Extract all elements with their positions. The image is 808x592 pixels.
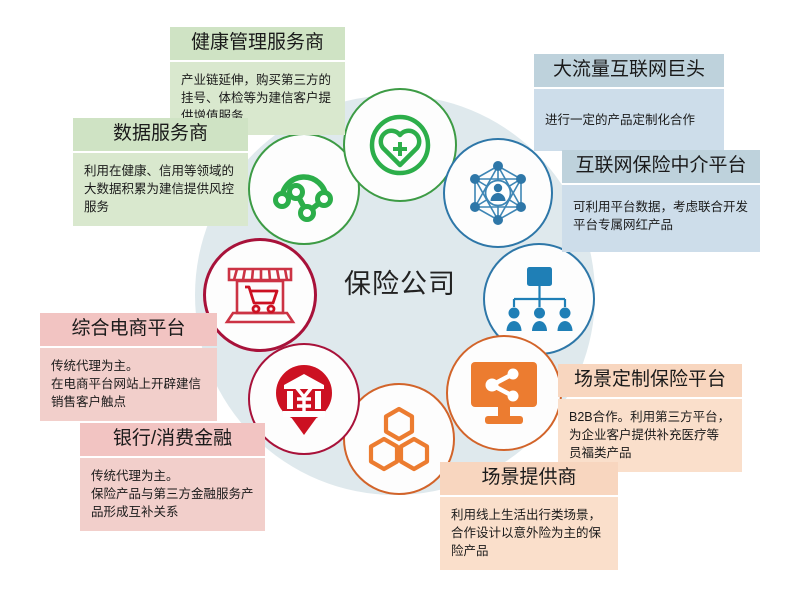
callout-title: 数据服务商 — [73, 118, 248, 151]
callout-bank-consumer-finance[interactable]: 银行/消费金融 传统代理为主。 保险产品与第三方金融服务产品形成互补关系 — [80, 423, 265, 531]
center-label: 保险公司 — [300, 262, 500, 301]
callout-title: 健康管理服务商 — [170, 27, 345, 60]
callout-title: 互联网保险中介平台 — [562, 150, 760, 183]
honeycomb-icon — [363, 403, 435, 475]
monitor-share-icon — [465, 356, 543, 430]
callout-scenario-custom-insurance[interactable]: 场景定制保险平台 B2B合作。利用第三方平台，为企业客户提供补充医疗等员福类产品 — [558, 364, 742, 472]
callout-title: 综合电商平台 — [40, 313, 217, 346]
callout-data-service[interactable]: 数据服务商 利用在健康、信用等领域的大数据积累为建信提供风控服务 — [73, 118, 248, 226]
node-screen-share[interactable] — [446, 335, 562, 451]
callout-body: 进行一定的产品定制化合作 — [534, 89, 724, 151]
org-chart-icon — [501, 263, 577, 335]
callout-body: 传统代理为主。 在电商平台网站上开辟建信销售客户触点 — [40, 348, 217, 421]
callout-internet-giant[interactable]: 大流量互联网巨头 进行一定的产品定制化合作 — [534, 54, 724, 151]
callout-title: 场景提供商 — [440, 462, 618, 495]
bank-yen-pin-icon — [268, 361, 340, 437]
node-health-heart[interactable] — [343, 88, 457, 202]
node-network-mesh[interactable] — [443, 138, 553, 248]
node-storefront[interactable] — [203, 238, 317, 352]
diagram-canvas: 保险公司 — [0, 0, 808, 592]
callout-body: 利用在健康、信用等领域的大数据积累为建信提供风控服务 — [73, 153, 248, 226]
callout-insurance-broker-platform[interactable]: 互联网保险中介平台 可利用平台数据，考虑联合开发平台专属网红产品 — [562, 150, 760, 252]
heart-medical-icon — [363, 108, 437, 182]
callout-ecommerce-platform[interactable]: 综合电商平台 传统代理为主。 在电商平台网站上开辟建信销售客户触点 — [40, 313, 217, 421]
callout-title: 大流量互联网巨头 — [534, 54, 724, 87]
callout-title: 银行/消费金融 — [80, 423, 265, 456]
callout-scenario-provider[interactable]: 场景提供商 利用线上生活出行类场景，合作设计以意外险为主的保险产品 — [440, 462, 618, 570]
callout-body: 可利用平台数据，考虑联合开发平台专属网红产品 — [562, 185, 760, 252]
node-graph-icon — [269, 154, 339, 224]
callout-body: 利用线上生活出行类场景，合作设计以意外险为主的保险产品 — [440, 497, 618, 570]
callout-body: 传统代理为主。 保险产品与第三方金融服务产品形成互补关系 — [80, 458, 265, 531]
storefront-cart-icon — [221, 259, 299, 331]
network-person-icon — [462, 157, 534, 229]
callout-title: 场景定制保险平台 — [558, 364, 742, 397]
